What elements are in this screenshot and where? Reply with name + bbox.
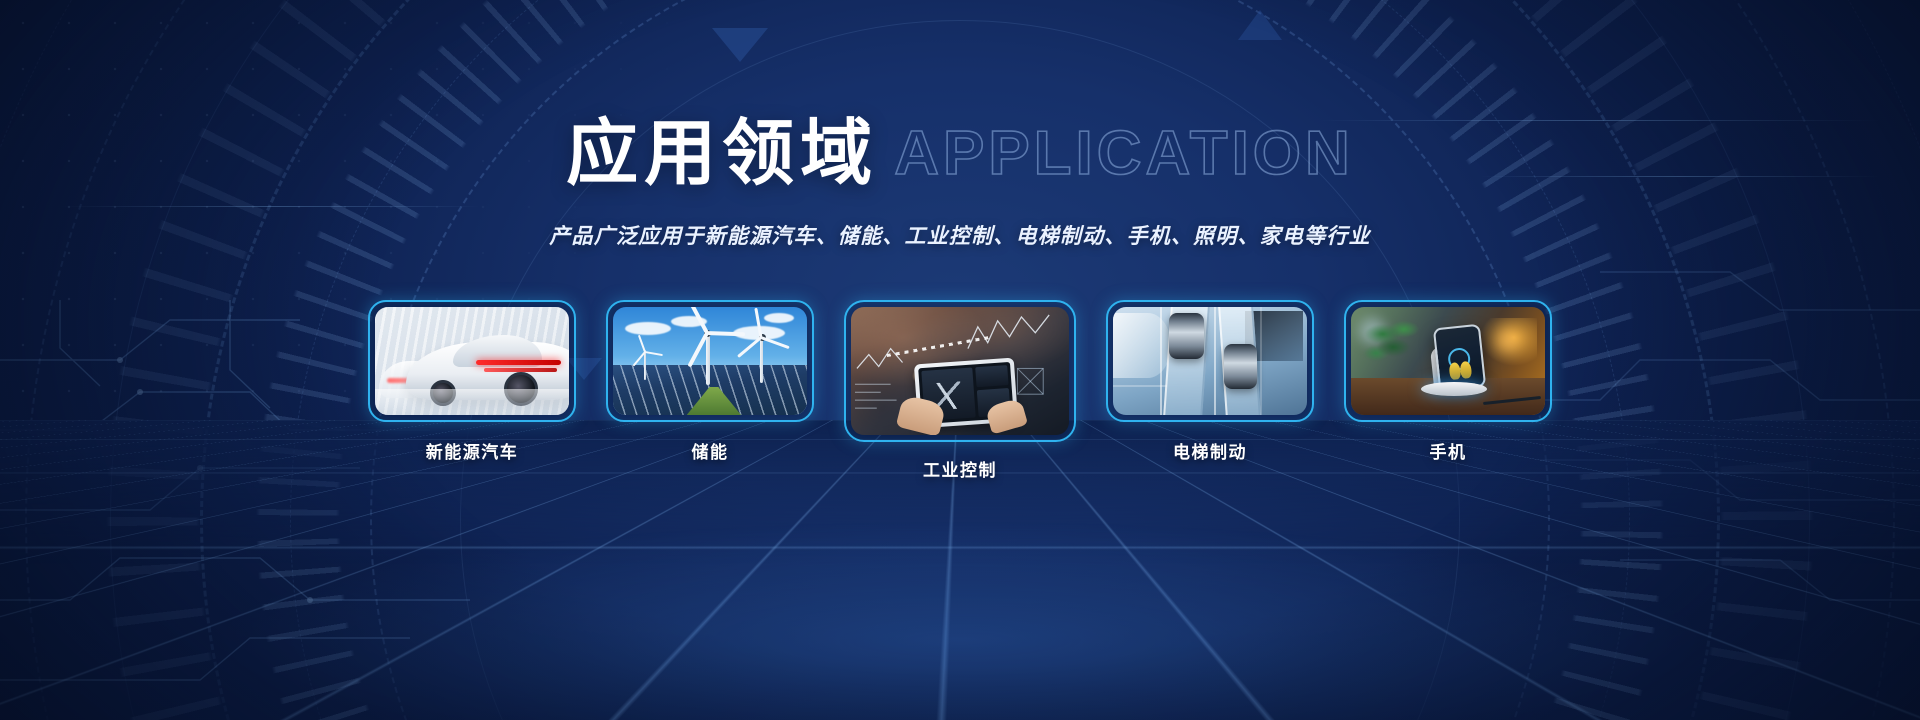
turbine-mast (706, 331, 710, 385)
industrial-control-tablet-photo (851, 307, 1069, 435)
application-card-list: 新能源汽车 (0, 300, 1920, 481)
card-label: 工业控制 (923, 456, 997, 481)
turbine-blade (638, 334, 646, 352)
wind-solar-farm-photo (613, 307, 807, 415)
turbine-blade (645, 351, 663, 356)
elevator-shaft-photo (1113, 307, 1307, 415)
earbud-icon (1460, 361, 1473, 379)
elevator-cab (1169, 313, 1204, 358)
card-frame (606, 300, 814, 422)
houseplant (1363, 316, 1429, 376)
turbine-mast (760, 335, 763, 383)
title-row: 应用领域 APPLICATION (0, 118, 1920, 190)
floor-reflection (375, 389, 569, 415)
card-frame (368, 300, 576, 422)
screen-pane (976, 365, 1009, 388)
application-card-phone[interactable]: 手机 (1344, 300, 1552, 463)
structural-beam (1113, 385, 1167, 387)
cloud (764, 313, 794, 323)
structural-beam (1160, 307, 1162, 415)
ev-car-photo (375, 307, 569, 415)
card-frame (1106, 300, 1314, 422)
page-subtitle: 产品广泛应用于新能源汽车、储能、工业控制、电梯制动、手机、照明、家电等行业 (0, 220, 1920, 250)
charger-base (1421, 382, 1487, 396)
structural-beam (1214, 307, 1216, 415)
card-label: 电梯制动 (1173, 438, 1247, 463)
triangle-accent (1238, 10, 1282, 40)
banner-header: 应用领域 APPLICATION 产品广泛应用于新能源汽车、储能、工业控制、电梯… (0, 118, 1920, 250)
car-taillight-secondary (484, 368, 558, 372)
elevator-cab (1224, 344, 1257, 389)
turbine-mast (644, 350, 646, 380)
application-card-elevator[interactable]: 电梯制动 (1106, 300, 1314, 463)
bokeh-light (1498, 331, 1518, 351)
application-card-industrial-control[interactable]: 工业控制 (844, 300, 1076, 481)
page-title: 应用领域 (566, 118, 878, 190)
card-frame (1344, 300, 1552, 422)
card-frame (844, 300, 1076, 442)
turbine-blade (707, 331, 745, 336)
card-label: 新能源汽车 (426, 438, 519, 463)
car-taillight (476, 360, 561, 365)
balcony-curve (1113, 313, 1171, 378)
cloud (625, 322, 671, 335)
smartphone-wireless-charger-photo (1351, 307, 1545, 415)
card-label: 手机 (1430, 438, 1467, 463)
application-card-energy-storage[interactable]: 储能 (606, 300, 814, 463)
application-banner: 应用领域 APPLICATION 产品广泛应用于新能源汽车、储能、工业控制、电梯… (0, 0, 1920, 720)
application-card-ev[interactable]: 新能源汽车 (368, 300, 576, 463)
triangle-accent (712, 28, 768, 62)
page-title-english: APPLICATION (894, 123, 1354, 185)
structural-beam (1260, 307, 1262, 415)
card-label: 储能 (692, 438, 729, 463)
